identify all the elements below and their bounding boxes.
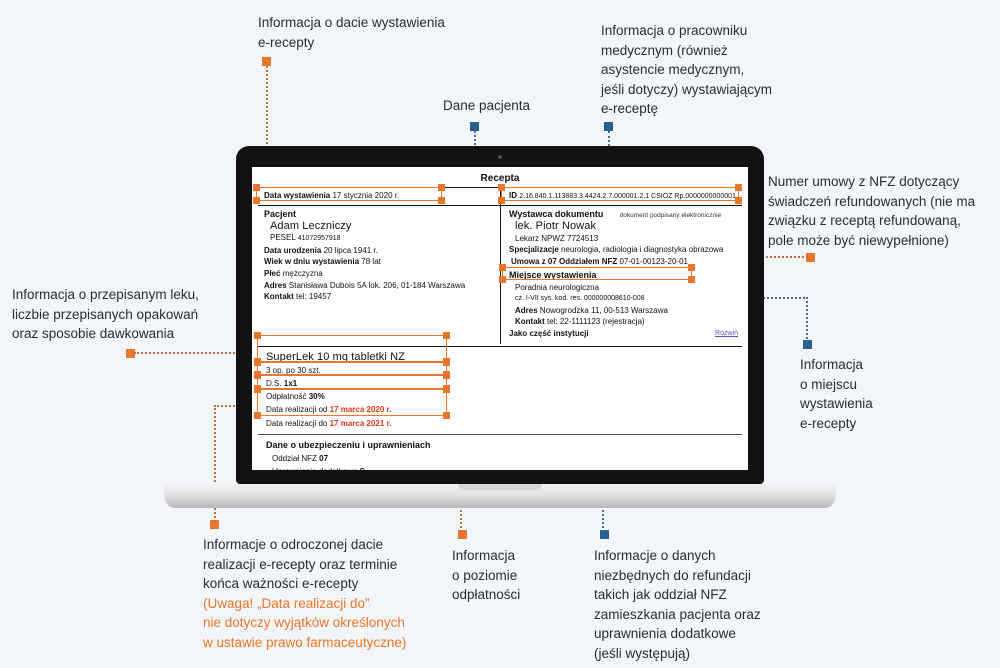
medication-ds-label: D.S. (266, 379, 282, 388)
medication-name: SuperLek 10 mg tabletki NZ (266, 351, 736, 364)
insurance-section: Dane o ubezpieczeniu i uprawnieniach Odd… (258, 435, 742, 470)
prescription-document: Recepta Data wystawienia 17 stycznia 202… (252, 167, 748, 470)
issue-date-value: 17 stycznia 2020 r. (332, 191, 399, 200)
patient-address-value: Stanisława Dubois 5A lok. 206, 01-184 Wa… (289, 281, 465, 290)
patient-contact-label: Kontakt (264, 292, 294, 301)
annotation-issue-date: Informacja o dacie wystawienia e-recepty (258, 13, 493, 52)
place-code: cz. I-VII sys. kod. res. 000000008610-00… (509, 293, 738, 305)
insurance-branch-label: Oddział NFZ (272, 454, 317, 463)
patient-birth-label: Data urodzenia (264, 246, 321, 255)
laptop-screen: Recepta Data wystawienia 17 stycznia 202… (252, 167, 748, 470)
issuer-signature-note: dokument podpisany elektronicznie (620, 212, 722, 219)
marker-patient-data (470, 122, 479, 131)
medication-packages: 3 op. po 30 szt. (266, 364, 736, 377)
issuer-section: Wystawca dokumentu dokument podpisany el… (500, 206, 742, 344)
issuer-contract-value: 07-01-00123-20-01 (619, 257, 688, 266)
annotation-realisation: Informacje o odroczonej dacie realizacji… (203, 535, 448, 652)
medication-from-label: Data realizacji od (266, 405, 327, 414)
document-body: Pacjent Adam Leczniczy PESEL 41072957918… (258, 206, 742, 344)
insurance-heading: Dane o ubezpieczeniu i uprawnieniach (266, 439, 736, 452)
patient-address-label: Adres (264, 281, 287, 290)
issuer-spec-label: Specjalizacje (509, 245, 559, 254)
insurance-branch-value: 07 (319, 454, 328, 463)
place-address-label: Adres (515, 306, 538, 315)
medication-section: SuperLek 10 mg tabletki NZ 3 op. po 30 s… (258, 347, 742, 432)
medication-to-value: 17 marca 2021 r. (330, 419, 392, 428)
webcam-icon (498, 155, 502, 159)
place-part-of-label: Jako część instytucji (509, 328, 589, 340)
marker-practitioner (604, 122, 613, 131)
medication-from-value: 17 marca 2020 r. (330, 405, 392, 414)
annotation-practitioner: Informacja o pracowniku medycznym (równi… (601, 21, 806, 119)
patient-sex-label: Płeć (264, 269, 280, 278)
laptop-mockup: Recepta Data wystawienia 17 stycznia 202… (236, 146, 764, 496)
annotation-place: Informacja o miejscu wystawienia e-recep… (800, 355, 910, 433)
medication-to-label: Data realizacji do (266, 419, 327, 428)
insurance-extra-label: Uprawnienia dodatkowe (272, 467, 357, 470)
patient-birth-value: 20 lipca 1941 r. (324, 246, 378, 255)
issue-date-field: Data wystawienia 17 stycznia 2020 r. (258, 188, 500, 205)
laptop-lid: Recepta Data wystawienia 17 stycznia 202… (236, 146, 764, 484)
document-title: Recepta (258, 171, 742, 187)
place-contact-value: tel: 22-1111123 (rejestracja) (547, 317, 645, 326)
patient-pesel-label: PESEL (270, 233, 296, 242)
document-id-field: ID 2.16.840.1.113883.3.4424.2.7.000001.2… (500, 188, 742, 205)
laptop-notch (458, 484, 542, 490)
patient-section: Pacjent Adam Leczniczy PESEL 41072957918… (258, 206, 500, 344)
patient-pesel-value: 41072957918 (298, 235, 341, 242)
annotation-realisation-text: Informacje o odroczonej dacie realizacji… (203, 537, 397, 591)
insurance-extra-value: S (360, 467, 365, 470)
annotation-nfz-contract: Numer umowy z NFZ dotyczący świadczeń re… (768, 172, 990, 250)
place-heading: Miejsce wystawienia (509, 269, 738, 282)
patient-age-label: Wiek w dniu wystawienia (264, 257, 359, 266)
document-id-value: 2.16.840.1.113883.3.4424.2.7.000001.2.1 … (519, 193, 736, 200)
expand-link[interactable]: Rozwiń (715, 328, 738, 340)
issuer-spec-value: neurologia, radiologia i diagnostyka obr… (561, 245, 723, 254)
patient-age-value: 78 lat (361, 257, 381, 266)
medication-copay-label: Odpłatność (266, 392, 306, 401)
document-id-label: ID (509, 191, 517, 200)
place-name: Poradnia neurologiczna (509, 282, 738, 294)
place-contact-label: Kontakt (515, 317, 545, 326)
medication-copay-value: 30% (309, 392, 325, 401)
annotation-copay: Informacja o poziomie odpłatności (452, 546, 572, 605)
patient-sex-value: mężczyzna (283, 269, 323, 278)
connector-place-v (806, 297, 808, 343)
annotation-refund: Informacje o danych niezbędnych do refun… (594, 546, 799, 663)
issuer-npwz-value: 7724513 (567, 234, 598, 243)
patient-contact-value: tel: 19457 (296, 292, 331, 301)
place-address-value: Nowogrodzka 11, 00-513 Warszawa (540, 306, 668, 315)
medication-ds-value: 1x1 (284, 379, 297, 388)
issuer-name: lek. Piotr Nowak (509, 221, 738, 233)
issuer-npwz-label: Lekarz NPWZ (515, 234, 565, 243)
patient-heading: Pacjent (264, 208, 496, 221)
annotation-realisation-warning: (Uwaga! „Data realizacji do” nie dotyczy… (203, 594, 448, 653)
issuer-contract-label: Umowa z 07 Oddziałem NFZ (511, 257, 617, 266)
annotation-patient-data: Dane pacjenta (443, 96, 603, 116)
issuer-heading: Wystawca dokumentu (509, 209, 603, 219)
issue-date-label: Data wystawienia (264, 191, 330, 200)
annotation-medicine: Informacja o przepisanym leku, liczbie p… (12, 285, 244, 344)
patient-name: Adam Leczniczy (264, 221, 496, 233)
marker-issue-date (262, 57, 271, 66)
document-header-row: Data wystawienia 17 stycznia 2020 r. ID … (258, 188, 742, 205)
